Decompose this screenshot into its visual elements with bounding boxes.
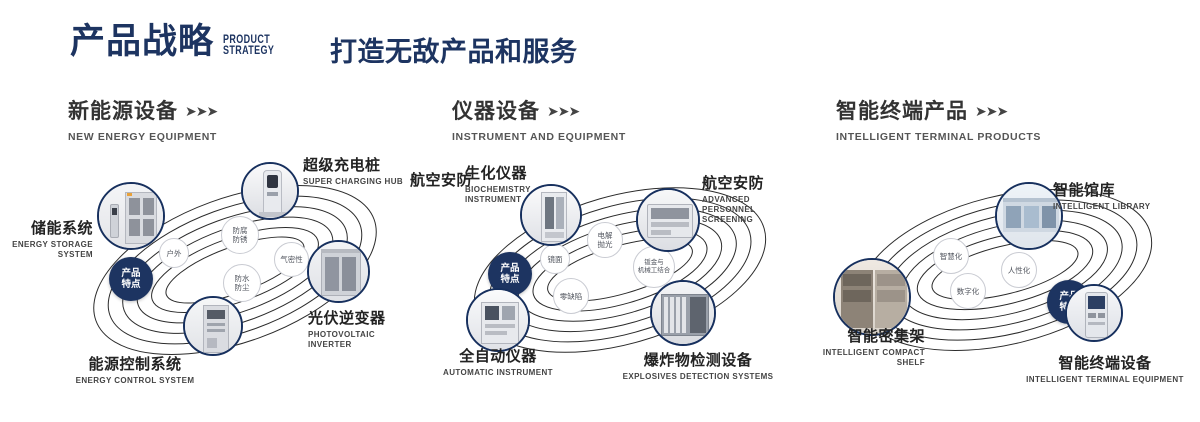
node-compact-shelf[interactable]	[833, 258, 911, 336]
section-title-cn: 智能终端产品	[836, 95, 968, 125]
label-automatic-instrument: 全自动仪器 AUTOMATIC INSTRUMENT	[428, 348, 568, 378]
label-cn: 储能系统	[5, 220, 93, 238]
compact-shelf-icon	[835, 260, 909, 334]
label-energy-storage: 储能系统 ENERGY STORAGE SYSTEM	[5, 220, 93, 260]
label-aviation-security-left: 航空安防	[410, 172, 472, 190]
label-cn: 智能终端设备	[1015, 355, 1195, 373]
explosives-detector-icon	[652, 282, 714, 344]
section-title-en: INSTRUMENT AND EQUIPMENT	[452, 131, 626, 143]
label-en: ENERGY STORAGE SYSTEM	[5, 240, 93, 260]
label-cn: 智能密集架	[795, 328, 925, 346]
section-title-cn: 仪器设备	[452, 95, 540, 125]
feature-bubble: 零缺陷	[553, 278, 589, 314]
label-cn: 生化仪器	[465, 165, 531, 183]
label-en: BIOCHEMISTRY INSTRUMENT	[465, 185, 531, 205]
label-en: ADVANCED PERSONNEL SCREENING	[702, 195, 800, 225]
label-en: INTELLIGENT LIBRARY	[1053, 202, 1151, 212]
energy-storage-cabinet-icon	[99, 184, 163, 248]
page-title-en: PRODUCT STRATEGY	[223, 35, 274, 57]
label-cn: 能源控制系统	[35, 356, 235, 374]
label-en: INTELLIGENT COMPACT SHELF	[795, 348, 925, 368]
label-cn: 爆炸物检测设备	[608, 352, 788, 370]
label-cn: 超级充电桩	[303, 157, 403, 175]
node-advanced-personnel-screening[interactable]	[636, 188, 700, 252]
diagram-new-energy: 户外 防腐 防锈 防水 防尘 气密性 产品 特点 储能系统 ENERGY STO…	[55, 160, 415, 375]
slide-canvas: 产品战略 PRODUCT STRATEGY 打造无敌产品和服务 新能源设备➤➤➤…	[0, 0, 1200, 422]
label-cn: 光伏逆变器	[308, 310, 415, 328]
label-explosives-detector: 爆炸物检测设备 EXPLOSIVES DETECTION SYSTEMS	[608, 352, 788, 382]
energy-control-cabinet-icon	[185, 298, 241, 354]
page-title-cn: 产品战略	[70, 24, 214, 59]
label-cn: 航空安防	[410, 172, 472, 190]
label-en: EXPLOSIVES DETECTION SYSTEMS	[608, 372, 788, 382]
node-explosives-detector[interactable]	[650, 280, 716, 346]
automatic-instrument-icon	[468, 290, 528, 350]
label-biochemistry-instrument: 生化仪器 BIOCHEMISTRY INSTRUMENT	[465, 165, 531, 205]
chevron-right-icon: ➤➤➤	[185, 103, 217, 120]
label-en: ENERGY CONTROL SYSTEM	[35, 376, 235, 386]
section-title-en: INTELLIGENT TERMINAL PRODUCTS	[836, 131, 1041, 143]
label-en: PHOTOVOLTAIC INVERTER	[308, 330, 415, 350]
section-heading-new-energy: 新能源设备➤➤➤ NEW ENERGY EQUIPMENT	[68, 95, 217, 143]
feature-bubble: 防腐 防锈	[221, 216, 259, 254]
feature-bubble: 智慧化	[933, 238, 969, 274]
terminal-kiosk-icon	[1067, 286, 1121, 340]
label-terminal-kiosk: 智能终端设备 INTELLIGENT TERMINAL EQUIPMENT	[1015, 355, 1195, 385]
label-en: AUTOMATIC INSTRUMENT	[428, 368, 568, 378]
section-title-cn: 新能源设备	[68, 95, 178, 125]
feature-bubble: 数字化	[950, 273, 986, 309]
node-terminal-kiosk[interactable]	[1065, 284, 1123, 342]
node-automatic-instrument[interactable]	[466, 288, 530, 352]
feature-bubble: 镜面	[540, 244, 570, 274]
feature-bubble: 户外	[159, 238, 189, 268]
section-heading-intelligent: 智能终端产品➤➤➤ INTELLIGENT TERMINAL PRODUCTS	[836, 95, 1041, 143]
node-energy-storage[interactable]	[97, 182, 165, 250]
feature-bubble: 气密性	[274, 242, 309, 277]
chevron-right-icon: ➤➤➤	[975, 103, 1007, 120]
label-cn: 智能馆库	[1053, 182, 1151, 200]
chevron-right-icon: ➤➤➤	[547, 103, 579, 120]
label-cn: 航空安防	[702, 175, 800, 193]
screening-scanner-icon	[638, 190, 698, 250]
feature-bubble: 电解 抛光	[587, 222, 623, 258]
core-line-2: 特点	[500, 274, 519, 285]
label-compact-shelf: 智能密集架 INTELLIGENT COMPACT SHELF	[795, 328, 925, 368]
node-energy-control[interactable]	[183, 296, 243, 356]
diagram-instrument: 镜面 电解 抛光 零缺陷 钣金与 机械工结合 产品 特点 航空安防 生化仪器 B…	[440, 160, 800, 375]
pv-inverter-icon	[309, 242, 368, 301]
label-cn: 全自动仪器	[428, 348, 568, 366]
core-line-1: 产品	[500, 263, 519, 274]
diagram-intelligent-terminal: 智慧化 人性化 数字化 产品 特点 智能馆库 INTELLIGENT LIBRA…	[825, 160, 1185, 375]
page-header: 产品战略 PRODUCT STRATEGY	[70, 24, 289, 59]
charging-pile-icon	[243, 164, 297, 218]
label-charging-pile: 超级充电桩 SUPER CHARGING HUB	[303, 157, 403, 187]
feature-bubble: 人性化	[1001, 252, 1037, 288]
label-en: INTELLIGENT TERMINAL EQUIPMENT	[1015, 375, 1195, 385]
label-pv-inverter: 光伏逆变器 PHOTOVOLTAIC INVERTER	[308, 310, 415, 350]
page-subtitle: 打造无敌产品和服务	[330, 30, 578, 69]
section-title-en: NEW ENERGY EQUIPMENT	[68, 131, 217, 143]
feature-bubble: 防水 防尘	[223, 264, 261, 302]
section-heading-instrument: 仪器设备➤➤➤ INSTRUMENT AND EQUIPMENT	[452, 95, 626, 143]
smart-library-icon	[997, 184, 1061, 248]
core-bubble-product-features: 产品 特点	[109, 257, 153, 301]
core-line-1: 产品	[121, 268, 140, 279]
node-pv-inverter[interactable]	[307, 240, 370, 303]
core-line-2: 特点	[121, 279, 140, 290]
label-en: SUPER CHARGING HUB	[303, 177, 403, 187]
label-smart-library: 智能馆库 INTELLIGENT LIBRARY	[1053, 182, 1151, 212]
label-energy-control: 能源控制系统 ENERGY CONTROL SYSTEM	[35, 356, 235, 386]
label-advanced-personnel-screening: 航空安防 ADVANCED PERSONNEL SCREENING	[702, 175, 800, 225]
node-charging-pile[interactable]	[241, 162, 299, 220]
